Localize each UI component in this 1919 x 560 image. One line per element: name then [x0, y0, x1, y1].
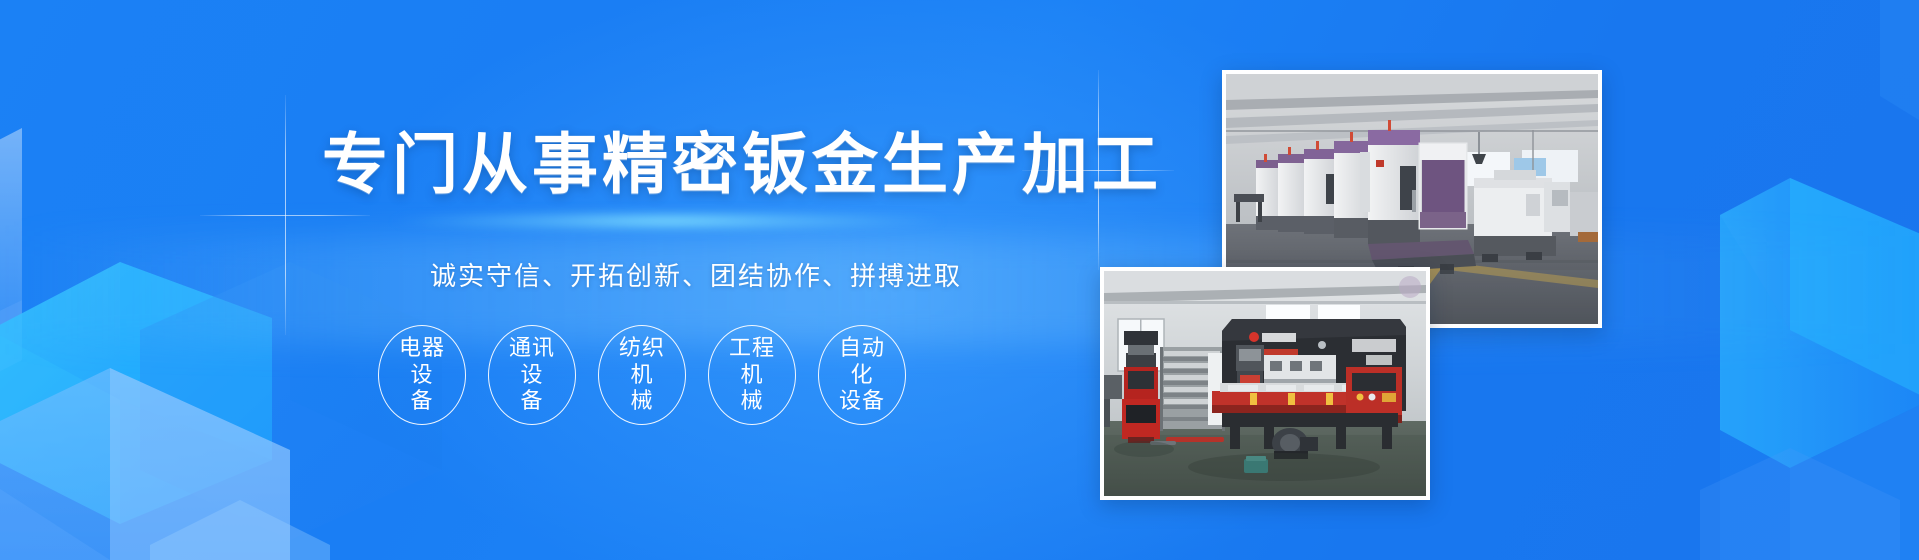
- category-tag-communication-equipment[interactable]: 通讯设 备: [488, 325, 576, 425]
- tag-line-1: 电器设: [389, 335, 455, 389]
- tag-line-2: 械: [609, 388, 675, 415]
- promo-banner: 专门从事精密钣金生产加工 诚实守信、开拓创新、团结协作、拼搏进取 电器设 备 通…: [0, 0, 1919, 560]
- category-tag-electrical-equipment[interactable]: 电器设 备: [378, 325, 466, 425]
- category-tag-list: 电器设 备 通讯设 备 纺织机 械 工程机 械: [378, 325, 906, 425]
- headline-glow: [298, 208, 1038, 234]
- photo-amada-turret-punch-press: [1100, 267, 1430, 500]
- category-tag-textile-machinery[interactable]: 纺织机 械: [598, 325, 686, 425]
- banner-content: 专门从事精密钣金生产加工 诚实守信、开拓创新、团结协作、拼搏进取 电器设 备 通…: [0, 0, 1150, 560]
- tag-line-2: 备: [499, 388, 565, 415]
- headline-block: 专门从事精密钣金生产加工: [322, 130, 1082, 200]
- tag-line-2: 械: [719, 388, 785, 415]
- tag-line-1: 通讯设: [499, 335, 565, 389]
- page-title: 专门从事精密钣金生产加工: [322, 130, 1082, 200]
- tag-line-1: 自动化: [829, 335, 895, 389]
- category-tag-engineering-machinery[interactable]: 工程机 械: [708, 325, 796, 425]
- banner-subtitle: 诚实守信、开拓创新、团结协作、拼搏进取: [430, 256, 962, 293]
- tag-line-1: 纺织机: [609, 335, 675, 389]
- tag-line-2: 设备: [829, 388, 895, 415]
- tag-line-2: 备: [389, 388, 455, 415]
- category-tag-automation-equipment[interactable]: 自动化 设备: [818, 325, 906, 425]
- tag-line-1: 工程机: [719, 335, 785, 389]
